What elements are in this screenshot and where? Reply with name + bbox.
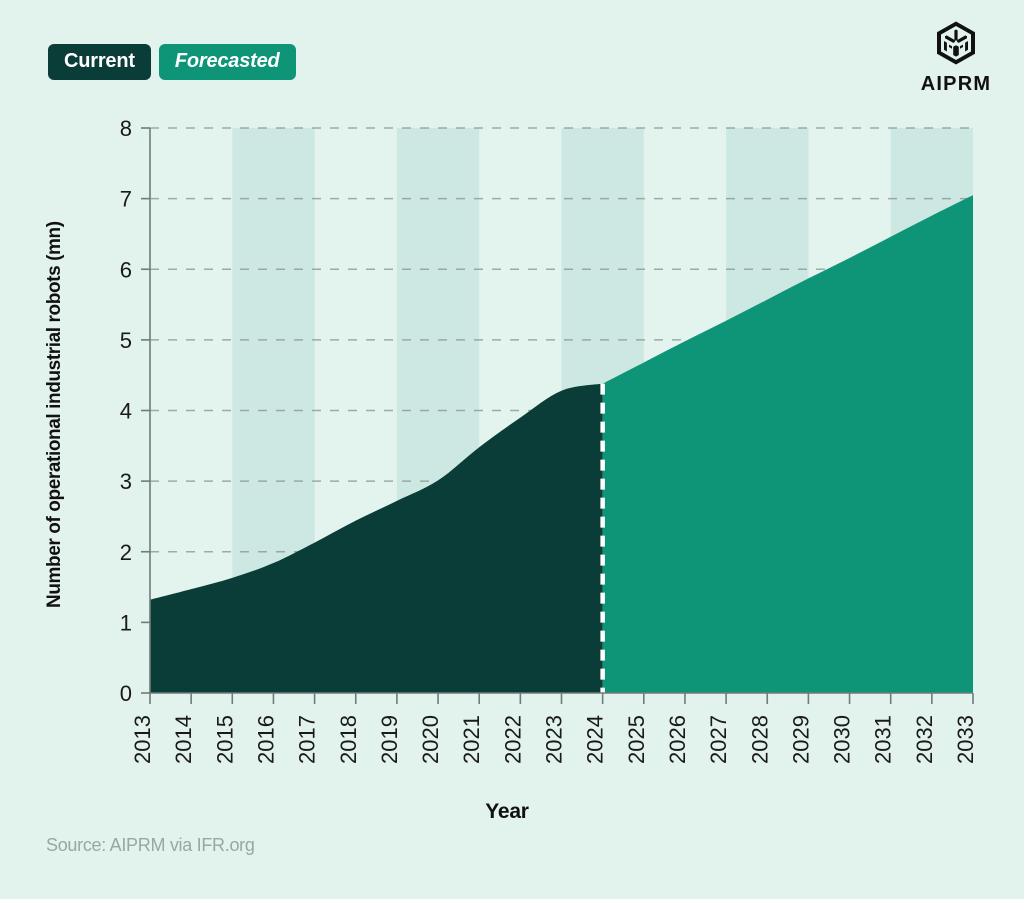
x-tick-label: 2017 [295, 715, 320, 764]
x-tick-label: 2026 [665, 715, 690, 764]
y-tick-label: 4 [120, 399, 132, 424]
y-axis-title: Number of operational industrial robots … [40, 155, 70, 675]
x-tick-label: 2016 [253, 715, 278, 764]
x-tick-label: 2018 [336, 715, 361, 764]
source-note: Source: AIPRM via IFR.org [46, 835, 255, 856]
x-tick-label: 2021 [459, 715, 484, 764]
y-tick-label: 5 [120, 328, 132, 353]
y-tick-label: 7 [120, 187, 132, 212]
y-tick-label: 1 [120, 610, 132, 635]
y-tick-label: 0 [120, 681, 132, 706]
x-axis-title-text: Year [485, 800, 529, 824]
x-tick-label: 2015 [212, 715, 237, 764]
x-tick-label: 2020 [418, 715, 443, 764]
x-tick-label: 2013 [130, 715, 155, 764]
x-tick-label: 2030 [830, 715, 855, 764]
x-tick-label: 2025 [624, 715, 649, 764]
plot-svg: 012345678 201320142015201620172018201920… [0, 0, 1024, 899]
x-tick-label: 2029 [788, 715, 813, 764]
area-chart: 012345678 201320142015201620172018201920… [0, 0, 1024, 899]
y-tick-label: 8 [120, 116, 132, 141]
x-tick-label: 2027 [706, 715, 731, 764]
x-axis-title: Year [0, 800, 1024, 824]
x-tick-label: 2031 [871, 715, 896, 764]
x-tick-label: 2019 [377, 715, 402, 764]
x-tick-labels: 2013201420152016201720182019202020212022… [130, 715, 978, 764]
y-tick-label: 3 [120, 469, 132, 494]
y-tick-labels: 012345678 [120, 116, 132, 706]
y-tick-label: 6 [120, 257, 132, 282]
x-tick-label: 2028 [747, 715, 772, 764]
x-tick-label: 2033 [953, 715, 978, 764]
x-tick-label: 2022 [500, 715, 525, 764]
x-tick-label: 2023 [542, 715, 567, 764]
x-tick-label: 2024 [583, 715, 608, 764]
y-tick-label: 2 [120, 540, 132, 565]
x-tick-label: 2032 [912, 715, 937, 764]
x-tick-label: 2014 [171, 715, 196, 764]
